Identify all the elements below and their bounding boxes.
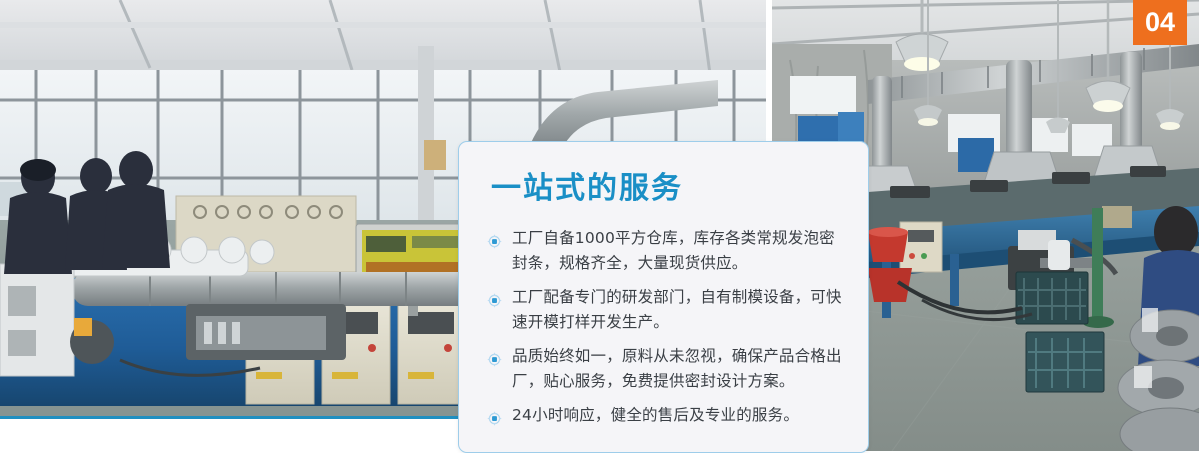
list-item: 品质始终如一，原料从未忽视，确保产品合格出厂，贴心服务，免费提供密封设计方案。 [487,344,842,394]
compass-bullet-icon [487,409,502,424]
list-item-text: 工厂配备专门的研发部门，自有制模设备，可快速开模打样开发生产。 [512,288,842,331]
step-number-badge: 04 [1133,0,1187,45]
list-item: 24小时响应，健全的售后及专业的服务。 [487,403,842,428]
service-info-card: 一站式的服务 工厂自备1000平方仓库，库存各类常规发泡密封条，规格齐全，大量现… [458,141,869,453]
service-bullet-list: 工厂自备1000平方仓库，库存各类常规发泡密封条，规格齐全，大量现货供应。 工厂… [487,226,842,428]
list-item-text: 24小时响应，健全的售后及专业的服务。 [512,406,799,424]
promo-banner: 04 一站式的服务 工厂自备1000平方仓库，库存各类常规发泡密封条，规格齐全，… [0,0,1199,451]
card-title: 一站式的服务 [491,174,842,204]
list-item-text: 品质始终如一，原料从未忽视，确保产品合格出厂，贴心服务，免费提供密封设计方案。 [512,347,842,390]
list-item-text: 工厂自备1000平方仓库，库存各类常规发泡密封条，规格齐全，大量现货供应。 [512,229,835,272]
list-item: 工厂配备专门的研发部门，自有制模设备，可快速开模打样开发生产。 [487,285,842,335]
compass-bullet-icon [487,350,502,365]
compass-bullet-icon [487,291,502,306]
step-number-text: 04 [1145,9,1175,36]
list-item: 工厂自备1000平方仓库，库存各类常规发泡密封条，规格齐全，大量现货供应。 [487,226,842,276]
compass-bullet-icon [487,232,502,247]
